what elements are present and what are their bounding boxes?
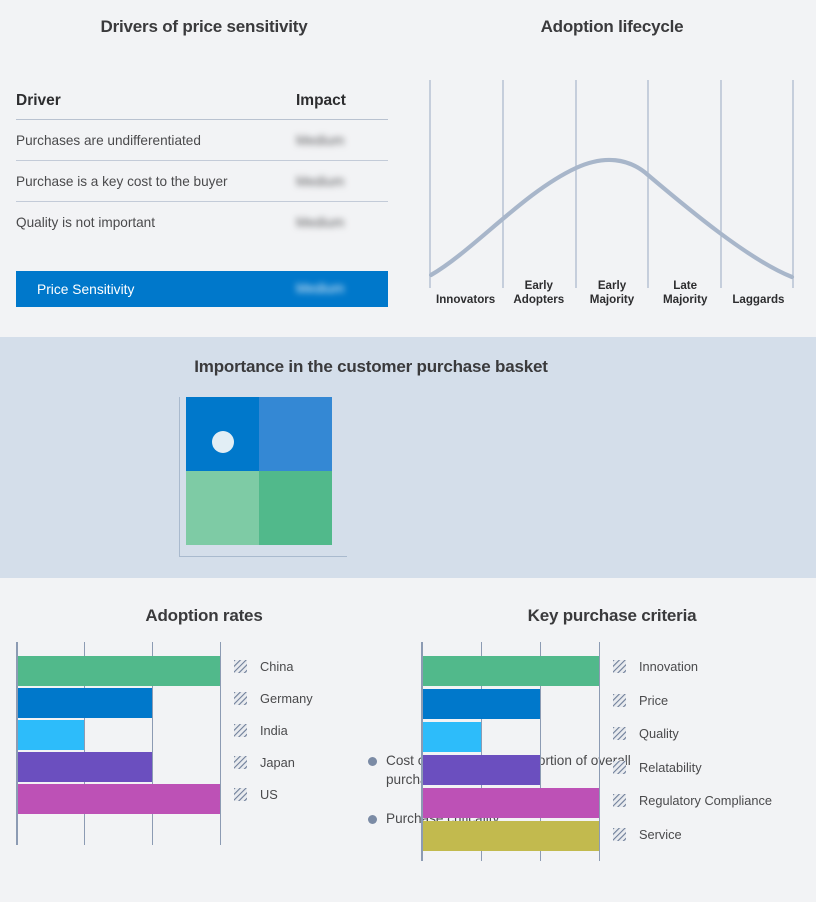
list-item: Price	[613, 684, 772, 718]
bar-japan	[18, 752, 152, 782]
legend-label: Quality	[639, 726, 679, 741]
label-line-2: Laggards	[732, 293, 784, 307]
quadrant-x-axis	[179, 556, 347, 557]
bar-service	[423, 821, 599, 851]
list-item: Relatability	[613, 751, 772, 785]
bar-us	[18, 784, 220, 814]
list-item: Japan	[234, 746, 313, 778]
top-band: Drivers of price sensitivity Driver Impa…	[0, 0, 816, 337]
drivers-panel-title: Drivers of price sensitivity	[0, 17, 408, 37]
bar-china	[18, 656, 220, 686]
legend-label: US	[260, 787, 278, 802]
impact-value-redacted: Medium	[296, 281, 344, 296]
column-header-impact: Impact	[296, 92, 388, 110]
bar-quality	[423, 722, 481, 752]
list-item: Quality	[613, 717, 772, 751]
basket-panel-title: Importance in the customer purchase bask…	[0, 357, 742, 377]
label-line-1: Early	[598, 279, 626, 293]
lifecycle-category-early-majority: Early Majority	[575, 260, 648, 310]
column-header-driver: Driver	[16, 92, 296, 110]
highlight-label: Price Sensitivity	[16, 282, 296, 297]
quadrant-bottom-right	[259, 471, 332, 545]
lifecycle-category-innovators: Innovators	[429, 260, 502, 310]
list-item: Germany	[234, 682, 313, 714]
key-purchase-criteria-panel: Key purchase criteria Innovation	[408, 578, 816, 902]
purchase-basket-panel: Importance in the customer purchase bask…	[0, 337, 816, 578]
lifecycle-chart: Innovators Early Adopters Early Majority…	[429, 80, 795, 310]
hatch-swatch-icon	[613, 761, 626, 774]
quadrant-top-right	[259, 397, 332, 471]
legend-label: Germany	[260, 691, 313, 706]
drivers-table-header: Driver Impact	[16, 92, 388, 120]
hatch-swatch-icon	[613, 794, 626, 807]
lifecycle-panel: Adoption lifecycle	[408, 0, 816, 337]
legend-label: Regulatory Compliance	[639, 793, 772, 808]
adoption-rates-title: Adoption rates	[0, 606, 408, 626]
price-sensitivity-highlight-row: Price Sensitivity Medium	[16, 271, 388, 307]
hatch-swatch-icon	[234, 724, 247, 737]
adoption-rates-plot	[16, 642, 222, 845]
adoption-rates-legend: China Germany India	[234, 650, 313, 810]
bottom-band: Adoption rates China	[0, 578, 816, 902]
quadrant-grid	[186, 397, 332, 545]
legend-label: Japan	[260, 755, 295, 770]
quadrant-chart	[179, 397, 347, 562]
legend-label: India	[260, 723, 288, 738]
criteria-plot	[421, 642, 601, 861]
list-item: India	[234, 714, 313, 746]
legend-label: Service	[639, 827, 682, 842]
drivers-table: Driver Impact Purchases are undifferenti…	[16, 92, 388, 243]
table-row: Purchases are undifferentiated Medium	[16, 120, 388, 161]
bar-innovation	[423, 656, 599, 686]
hatch-swatch-icon	[234, 660, 247, 673]
impact-value-redacted: Medium	[296, 133, 344, 148]
gridline-3	[220, 642, 221, 845]
list-item: China	[234, 650, 313, 682]
label-line-2: Majority	[663, 293, 707, 307]
hatch-swatch-icon	[613, 660, 626, 673]
highlight-impact: Medium	[296, 280, 388, 298]
quadrant-bottom-left	[186, 471, 259, 545]
driver-name: Purchases are undifferentiated	[16, 133, 296, 148]
driver-name: Purchase is a key cost to the buyer	[16, 174, 296, 189]
quadrant-y-axis	[179, 397, 180, 557]
criteria-title: Key purchase criteria	[408, 606, 816, 626]
quadrant-position-marker	[212, 431, 234, 453]
list-item: US	[234, 778, 313, 810]
legend-label: Price	[639, 693, 668, 708]
lifecycle-category-laggards: Laggards	[722, 260, 795, 310]
label-line-1: Late	[673, 279, 697, 293]
hatch-swatch-icon	[234, 788, 247, 801]
label-line-2: Adopters	[513, 293, 564, 307]
driver-impact: Medium	[296, 133, 388, 148]
lifecycle-category-early-adopters: Early Adopters	[502, 260, 575, 310]
impact-value-redacted: Medium	[296, 174, 344, 189]
hatch-swatch-icon	[613, 694, 626, 707]
legend-label: Innovation	[639, 659, 698, 674]
impact-value-redacted: Medium	[296, 215, 344, 230]
table-row: Purchase is a key cost to the buyer Medi…	[16, 161, 388, 202]
hatch-swatch-icon	[234, 692, 247, 705]
label-line-2: Majority	[590, 293, 634, 307]
legend-label: Relatability	[639, 760, 702, 775]
list-item: Service	[613, 818, 772, 852]
label-line-1: Early	[525, 279, 553, 293]
hatch-swatch-icon	[234, 756, 247, 769]
infographic-page: Drivers of price sensitivity Driver Impa…	[0, 0, 816, 902]
label-line-2: Innovators	[436, 293, 495, 307]
drivers-panel: Drivers of price sensitivity Driver Impa…	[0, 0, 408, 337]
bar-price	[423, 689, 540, 719]
criteria-legend: Innovation Price Quality	[613, 650, 772, 851]
driver-name: Quality is not important	[16, 215, 296, 230]
hatch-swatch-icon	[613, 727, 626, 740]
lifecycle-category-labels: Innovators Early Adopters Early Majority…	[429, 260, 795, 310]
list-item: Regulatory Compliance	[613, 784, 772, 818]
table-row: Quality is not important Medium	[16, 202, 388, 243]
bar-india	[18, 720, 84, 750]
driver-impact: Medium	[296, 215, 388, 230]
list-item: Innovation	[613, 650, 772, 684]
lifecycle-panel-title: Adoption lifecycle	[408, 17, 816, 37]
hatch-swatch-icon	[613, 828, 626, 841]
lifecycle-category-late-majority: Late Majority	[649, 260, 722, 310]
lifecycle-gridlines	[430, 80, 793, 288]
driver-impact: Medium	[296, 174, 388, 189]
bar-germany	[18, 688, 152, 718]
legend-label: China	[260, 659, 293, 674]
gridline-3	[599, 642, 600, 861]
bar-relatability	[423, 755, 540, 785]
adoption-rates-panel: Adoption rates China	[0, 578, 408, 902]
bar-regulatory-compliance	[423, 788, 599, 818]
